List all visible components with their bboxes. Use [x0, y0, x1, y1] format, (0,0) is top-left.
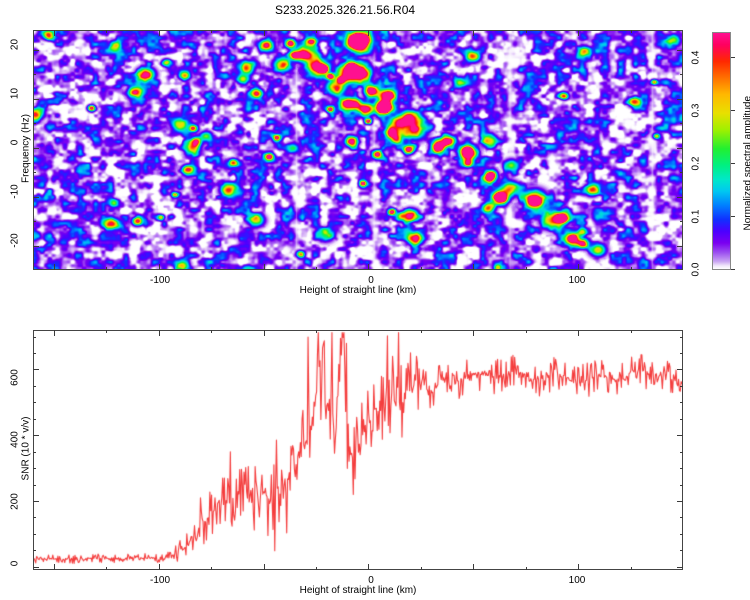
axis-tick	[680, 534, 683, 535]
axis-tick	[677, 501, 683, 502]
spectrogram-ytick-label: 10	[10, 79, 21, 109]
axis-tick	[680, 468, 683, 469]
axis-tick	[316, 330, 317, 333]
spectrogram-plot	[33, 30, 683, 270]
axis-tick	[680, 386, 683, 387]
snr-ytick-label: 200	[10, 487, 21, 517]
axis-tick	[677, 148, 683, 149]
axis-tick	[54, 564, 55, 570]
axis-tick	[368, 330, 369, 336]
axis-tick	[578, 264, 579, 270]
axis-tick	[33, 534, 36, 535]
axis-tick	[211, 267, 212, 270]
axis-tick	[677, 197, 683, 198]
axis-tick	[211, 330, 212, 333]
spectrogram-xtick-label: -100	[140, 275, 180, 286]
axis-tick	[33, 197, 39, 198]
axis-tick	[526, 567, 527, 570]
axis-tick	[106, 30, 107, 33]
axis-tick	[473, 30, 474, 36]
colorbar-tick	[731, 269, 735, 270]
axis-tick	[106, 567, 107, 570]
snr-xtick-label: 0	[351, 575, 391, 586]
colorbar-tick-label: 0.2	[691, 147, 702, 181]
colorbar-tick	[731, 110, 735, 111]
spectrogram-ytick-label: -20	[10, 224, 21, 258]
axis-tick	[54, 330, 55, 336]
colorbar-tick	[731, 163, 735, 164]
axis-tick	[33, 468, 36, 469]
colorbar-tick-label: 0.0	[691, 253, 702, 287]
axis-tick	[264, 330, 265, 336]
axis-tick	[680, 517, 683, 518]
axis-tick	[677, 246, 683, 247]
axis-tick	[159, 264, 160, 270]
axis-tick	[473, 330, 474, 336]
axis-tick	[677, 99, 683, 100]
axis-tick	[106, 267, 107, 270]
spectrogram-xtick-label: 100	[557, 275, 597, 286]
axis-tick	[526, 30, 527, 33]
axis-tick	[368, 564, 369, 570]
snr-ytick-label: 600	[10, 363, 21, 393]
spectrogram-xtick-label: 0	[351, 275, 391, 286]
axis-tick	[677, 369, 683, 370]
axis-tick	[33, 485, 36, 486]
axis-tick	[316, 30, 317, 33]
axis-tick	[33, 550, 36, 551]
axis-tick	[680, 550, 683, 551]
axis-tick	[33, 435, 39, 436]
axis-tick	[578, 330, 579, 336]
spectrogram-ytick-label: 20	[10, 30, 21, 60]
snr-ytick-label: 0	[10, 554, 21, 574]
page-title: S233.2025.326.21.56.R04	[0, 3, 690, 17]
spectrogram-y-axis-label: Frequency (Hz)	[21, 89, 32, 209]
axis-tick	[264, 564, 265, 570]
snr-canvas	[34, 331, 682, 569]
axis-tick	[159, 564, 160, 570]
colorbar-tick-label: 0.4	[691, 41, 702, 75]
axis-tick	[33, 123, 36, 124]
axis-tick	[680, 74, 683, 75]
axis-tick	[677, 435, 683, 436]
axis-tick	[680, 402, 683, 403]
colorbar-tick-label: 0.3	[691, 94, 702, 128]
snr-plot	[33, 330, 683, 570]
axis-tick	[159, 30, 160, 36]
figure-root: S233.2025.326.21.56.R04 Frequency (Hz) H…	[0, 0, 750, 600]
axis-tick	[33, 386, 36, 387]
axis-tick	[631, 30, 632, 33]
axis-tick	[211, 567, 212, 570]
axis-tick	[368, 264, 369, 270]
axis-tick	[33, 369, 39, 370]
colorbar-tick	[731, 216, 735, 217]
axis-tick	[680, 485, 683, 486]
spectrogram-ytick-label: -10	[10, 175, 21, 209]
axis-tick	[526, 267, 527, 270]
axis-tick	[264, 30, 265, 36]
axis-tick	[631, 267, 632, 270]
axis-tick	[33, 172, 36, 173]
axis-tick	[33, 353, 36, 354]
axis-tick	[680, 419, 683, 420]
axis-tick	[526, 330, 527, 333]
axis-tick	[33, 402, 36, 403]
axis-tick	[33, 419, 36, 420]
axis-tick	[54, 30, 55, 36]
axis-tick	[421, 267, 422, 270]
axis-tick	[680, 452, 683, 453]
axis-tick	[473, 564, 474, 570]
axis-tick	[264, 264, 265, 270]
axis-tick	[33, 246, 39, 247]
snr-ytick-label: 400	[10, 425, 21, 455]
snr-xtick-label: 100	[557, 575, 597, 586]
axis-tick	[33, 50, 39, 51]
colorbar-tick	[731, 57, 735, 58]
snr-y-axis-label: SNR (10 * v/v)	[21, 384, 32, 514]
colorbar-axis-label: Normalized spectral amplitude	[743, 71, 750, 231]
axis-tick	[578, 564, 579, 570]
axis-tick	[33, 517, 36, 518]
axis-tick	[421, 567, 422, 570]
axis-tick	[33, 501, 39, 502]
axis-tick	[33, 74, 36, 75]
axis-tick	[680, 337, 683, 338]
colorbar	[712, 32, 731, 270]
axis-tick	[33, 221, 36, 222]
axis-tick	[159, 330, 160, 336]
axis-tick	[316, 567, 317, 570]
colorbar-tick-label: 0.1	[691, 200, 702, 234]
axis-tick	[680, 221, 683, 222]
axis-tick	[631, 567, 632, 570]
axis-tick	[211, 30, 212, 33]
axis-tick	[680, 353, 683, 354]
axis-tick	[33, 567, 39, 568]
axis-tick	[421, 30, 422, 33]
axis-tick	[680, 123, 683, 124]
colorbar-gradient	[712, 32, 731, 270]
axis-tick	[33, 337, 36, 338]
axis-tick	[677, 567, 683, 568]
axis-tick	[578, 30, 579, 36]
axis-tick	[421, 330, 422, 333]
axis-tick	[680, 172, 683, 173]
axis-tick	[33, 99, 39, 100]
axis-tick	[316, 267, 317, 270]
axis-tick	[677, 50, 683, 51]
snr-xtick-label: -100	[140, 575, 180, 586]
spectrogram-x-axis-label: Height of straight line (km)	[178, 285, 538, 296]
axis-tick	[631, 330, 632, 333]
axis-tick	[54, 264, 55, 270]
axis-tick	[473, 264, 474, 270]
axis-tick	[106, 330, 107, 333]
axis-tick	[33, 452, 36, 453]
spectrogram-canvas	[34, 31, 682, 269]
axis-tick	[368, 30, 369, 36]
snr-x-axis-label: Height of straight line (km)	[178, 585, 538, 596]
axis-tick	[33, 148, 39, 149]
spectrogram-ytick-label: 0	[10, 130, 21, 156]
